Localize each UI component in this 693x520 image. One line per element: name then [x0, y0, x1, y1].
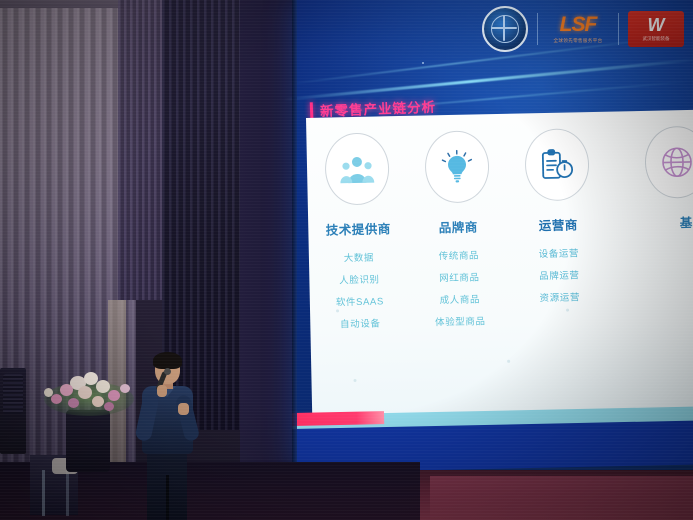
w-logo-subtext: 武汉智能装备 — [643, 36, 670, 42]
column-infrastructure: 基 — [606, 110, 693, 412]
speaker-grill — [3, 374, 23, 414]
list-item: 品牌运营 — [539, 267, 580, 282]
microphone-head — [164, 368, 171, 375]
column-label: 品牌商 — [439, 216, 478, 236]
list-item: 网红商品 — [439, 269, 480, 284]
list-item: 软件SAAS — [336, 293, 384, 308]
globe-network-icon — [644, 126, 693, 199]
list-item: 体验型商品 — [435, 313, 486, 328]
list-item: 成人商品 — [439, 291, 480, 306]
column-brand-owner: 品牌商 传统商品 网红商品 成人商品 体验型商品 — [406, 114, 512, 416]
list-item: 设备运营 — [539, 245, 580, 260]
conference-photo: LSF 全球领先零售服务平台 W 武汉智能装备 新零售产业链分析 — [0, 0, 693, 520]
list-item: 资源运营 — [539, 289, 580, 304]
column-label: 技术提供商 — [326, 218, 391, 238]
people-group-icon — [324, 132, 389, 205]
stage-floor-highlight — [430, 476, 693, 520]
chair-leg — [66, 470, 69, 516]
column-items: 传统商品 网红商品 成人商品 体验型商品 — [433, 247, 485, 328]
logo-separator — [537, 13, 538, 45]
flower — [104, 402, 114, 411]
clipboard-stopwatch-icon — [524, 128, 589, 201]
column-items: 大数据 人脸识别 软件SAAS 自动设备 — [335, 249, 385, 330]
slide-content-panel: 技术提供商 大数据 人脸识别 软件SAAS 自动设备 — [306, 110, 693, 418]
screen-left-edge — [292, 0, 297, 470]
loudspeaker-box — [0, 368, 26, 454]
column-items: 设备运营 品牌运营 资源运营 — [539, 245, 581, 304]
globe-grid-icon — [491, 15, 519, 43]
logo-bar: LSF 全球领先零售服务平台 W 武汉智能装备 — [482, 6, 684, 52]
flower — [60, 384, 73, 396]
lsf-logo-subtext: 全球领先零售服务平台 — [554, 38, 603, 44]
chair-leg — [42, 470, 45, 516]
column-technology-provider: 技术提供商 大数据 人脸识别 软件SAAS 自动设备 — [306, 116, 412, 418]
presenter-leg-split — [166, 475, 169, 520]
column-container: 技术提供商 大数据 人脸识别 软件SAAS 自动设备 — [306, 110, 693, 418]
flower — [51, 394, 62, 404]
w-logo-mark: W — [648, 16, 665, 34]
lsf-logo: LSF 全球领先零售服务平台 — [547, 10, 609, 48]
slide-bottom-band-pink — [292, 411, 384, 426]
floral-arrangement — [40, 368, 136, 424]
flower — [120, 384, 130, 393]
flower — [92, 396, 104, 407]
presenter-hand-right — [178, 403, 189, 415]
list-item: 人脸识别 — [339, 271, 380, 286]
column-label: 基 — [680, 212, 693, 231]
flower — [68, 398, 79, 408]
lsf-logo-mark: LSF — [560, 14, 597, 35]
globe-emblem-logo — [482, 6, 528, 52]
list-item: 大数据 — [344, 250, 375, 265]
presenter-hair — [153, 352, 182, 369]
projection-screen: LSF 全球领先零售服务平台 W 武汉智能装备 新零售产业链分析 — [292, 0, 693, 470]
logo-separator — [618, 13, 619, 45]
flower — [44, 388, 53, 397]
flower — [96, 380, 110, 393]
flower — [78, 386, 92, 399]
presenter-hand-left — [157, 385, 167, 397]
list-item: 传统商品 — [439, 247, 480, 262]
title-accent-bar — [310, 102, 314, 119]
lightbulb-icon — [424, 130, 489, 203]
list-item: 自动设备 — [340, 315, 381, 330]
w-logo: W 武汉智能装备 — [628, 11, 684, 47]
flower — [108, 390, 120, 401]
spark-dot — [422, 62, 424, 64]
column-operator: 运营商 设备运营 品牌运营 资源运营 — [506, 112, 612, 414]
column-label: 运营商 — [539, 214, 578, 234]
presenter — [139, 355, 195, 520]
